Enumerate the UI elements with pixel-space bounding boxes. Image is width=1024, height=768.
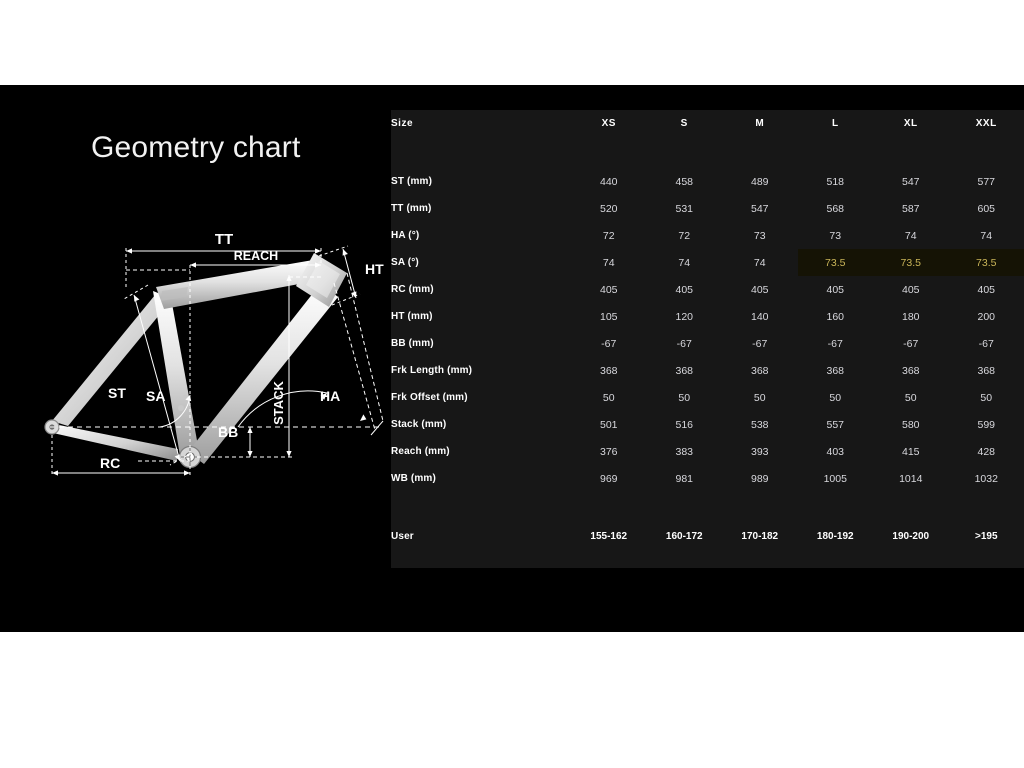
cell-m: 140 [722,303,798,330]
cell-l: 368 [798,357,874,384]
cell-xs: 74 [571,249,647,276]
cell-s: 531 [647,195,723,222]
geometry-table: Size XS S M L XL XXL ST (mm)440458489518… [391,110,1024,550]
user-value-xs: 155-162 [571,523,647,550]
row-label: HT (mm) [391,303,571,330]
cell-xs: 405 [571,276,647,303]
table-row: HA (°)727273737474 [391,222,1024,249]
cell-xl: 74 [873,222,949,249]
cell-xl: 73.5 [873,249,949,276]
cell-xl: 1014 [873,465,949,492]
cell-m: 538 [722,411,798,438]
cell-xl: 415 [873,438,949,465]
cell-xl: 587 [873,195,949,222]
user-value-s: 160-172 [647,523,723,550]
cell-xs: 50 [571,384,647,411]
cell-m: 547 [722,195,798,222]
header-size-s: S [647,110,723,137]
cell-l: 557 [798,411,874,438]
cell-m: 489 [722,168,798,195]
diagram-label-rc: RC [100,455,120,471]
row-label: WB (mm) [391,465,571,492]
table-row: ST (mm)440458489518547577 [391,168,1024,195]
geometry-table-panel: Size XS S M L XL XXL ST (mm)440458489518… [391,110,1024,568]
footer-spacer-row [391,492,1024,523]
user-value-l: 180-192 [798,523,874,550]
cell-s: 458 [647,168,723,195]
row-label: Reach (mm) [391,438,571,465]
cell-l: 518 [798,168,874,195]
cell-l: 160 [798,303,874,330]
table-header-row: Size XS S M L XL XXL [391,110,1024,137]
cell-l: 73 [798,222,874,249]
table-row: Frk Length (mm)368368368368368368 [391,357,1024,384]
row-label: Frk Length (mm) [391,357,571,384]
cell-m: 393 [722,438,798,465]
frame-shape [45,253,347,468]
diagram-label-reach: REACH [234,249,278,263]
slide-canvas: Geometry chart [0,85,1024,632]
diagram-label-sa: SA [146,388,165,404]
cell-xl: 580 [873,411,949,438]
diagram-label-ht: HT [365,261,384,277]
cell-l: 1005 [798,465,874,492]
header-size-m: M [722,110,798,137]
table-row: HT (mm)105120140160180200 [391,303,1024,330]
cell-xl: 368 [873,357,949,384]
row-label: Stack (mm) [391,411,571,438]
cell-xxl: 74 [949,222,1024,249]
geometry-table-footer: User 155-162 160-172 170-182 180-192 190… [391,492,1024,550]
cell-xs: 969 [571,465,647,492]
cell-l: 568 [798,195,874,222]
cell-s: -67 [647,330,723,357]
cell-xs: 376 [571,438,647,465]
diagram-label-bb: BB [218,424,238,440]
row-label: Frk Offset (mm) [391,384,571,411]
header-size-xxl: XXL [949,110,1024,137]
header-label-size: Size [391,110,571,137]
table-row: BB (mm)-67-67-67-67-67-67 [391,330,1024,357]
diagram-label-tt: TT [215,231,233,248]
cell-xs: -67 [571,330,647,357]
row-label: BB (mm) [391,330,571,357]
cell-xxl: 1032 [949,465,1024,492]
cell-xxl: 599 [949,411,1024,438]
cell-m: 405 [722,276,798,303]
cell-xxl: 50 [949,384,1024,411]
table-row: SA (°)74747473.573.573.5 [391,249,1024,276]
cell-xs: 520 [571,195,647,222]
header-spacer-row [391,137,1024,168]
cell-s: 120 [647,303,723,330]
bicycle-frame-geometry-diagram: TT REACH HT ST SA STACK HA BB RC [38,225,388,495]
table-row: Frk Offset (mm)505050505050 [391,384,1024,411]
cell-xxl: -67 [949,330,1024,357]
cell-xl: 405 [873,276,949,303]
cell-s: 981 [647,465,723,492]
cell-xl: -67 [873,330,949,357]
cell-m: 73 [722,222,798,249]
cell-xs: 501 [571,411,647,438]
cell-m: -67 [722,330,798,357]
cell-l: 403 [798,438,874,465]
cell-xs: 105 [571,303,647,330]
cell-xs: 440 [571,168,647,195]
cell-l: 50 [798,384,874,411]
user-value-m: 170-182 [722,523,798,550]
diagram-label-st: ST [108,385,126,401]
diagram-label-ha: HA [320,388,340,404]
user-value-xl: 190-200 [873,523,949,550]
cell-xxl: 368 [949,357,1024,384]
table-row: TT (mm)520531547568587605 [391,195,1024,222]
cell-xl: 180 [873,303,949,330]
header-size-xl: XL [873,110,949,137]
cell-xl: 50 [873,384,949,411]
cell-m: 989 [722,465,798,492]
cell-l: 73.5 [798,249,874,276]
geometry-table-body: Size XS S M L XL XXL [391,110,1024,168]
cell-xxl: 428 [949,438,1024,465]
cell-xl: 547 [873,168,949,195]
cell-m: 74 [722,249,798,276]
header-size-xs: XS [571,110,647,137]
row-label: SA (°) [391,249,571,276]
cell-s: 72 [647,222,723,249]
header-size-l: L [798,110,874,137]
row-label: RC (mm) [391,276,571,303]
cell-l: 405 [798,276,874,303]
cell-m: 50 [722,384,798,411]
diagram-label-stack: STACK [271,380,286,424]
cell-xs: 368 [571,357,647,384]
page-title: Geometry chart [91,133,301,163]
table-row: WB (mm)969981989100510141032 [391,465,1024,492]
geometry-data-rows: ST (mm)440458489518547577TT (mm)52053154… [391,168,1024,492]
cell-xxl: 405 [949,276,1024,303]
table-row: RC (mm)405405405405405405 [391,276,1024,303]
cell-xs: 72 [571,222,647,249]
cell-xxl: 605 [949,195,1024,222]
cell-s: 405 [647,276,723,303]
row-label: TT (mm) [391,195,571,222]
cell-xxl: 577 [949,168,1024,195]
cell-l: -67 [798,330,874,357]
table-row-user: User 155-162 160-172 170-182 180-192 190… [391,523,1024,550]
table-row: Stack (mm)501516538557580599 [391,411,1024,438]
cell-s: 74 [647,249,723,276]
table-row: Reach (mm)376383393403415428 [391,438,1024,465]
cell-xxl: 73.5 [949,249,1024,276]
cell-s: 516 [647,411,723,438]
cell-s: 50 [647,384,723,411]
cell-s: 368 [647,357,723,384]
row-label-user: User [391,523,571,550]
user-value-xxl: >195 [949,523,1024,550]
cell-xxl: 200 [949,303,1024,330]
row-label: ST (mm) [391,168,571,195]
cell-m: 368 [722,357,798,384]
row-label: HA (°) [391,222,571,249]
cell-s: 383 [647,438,723,465]
